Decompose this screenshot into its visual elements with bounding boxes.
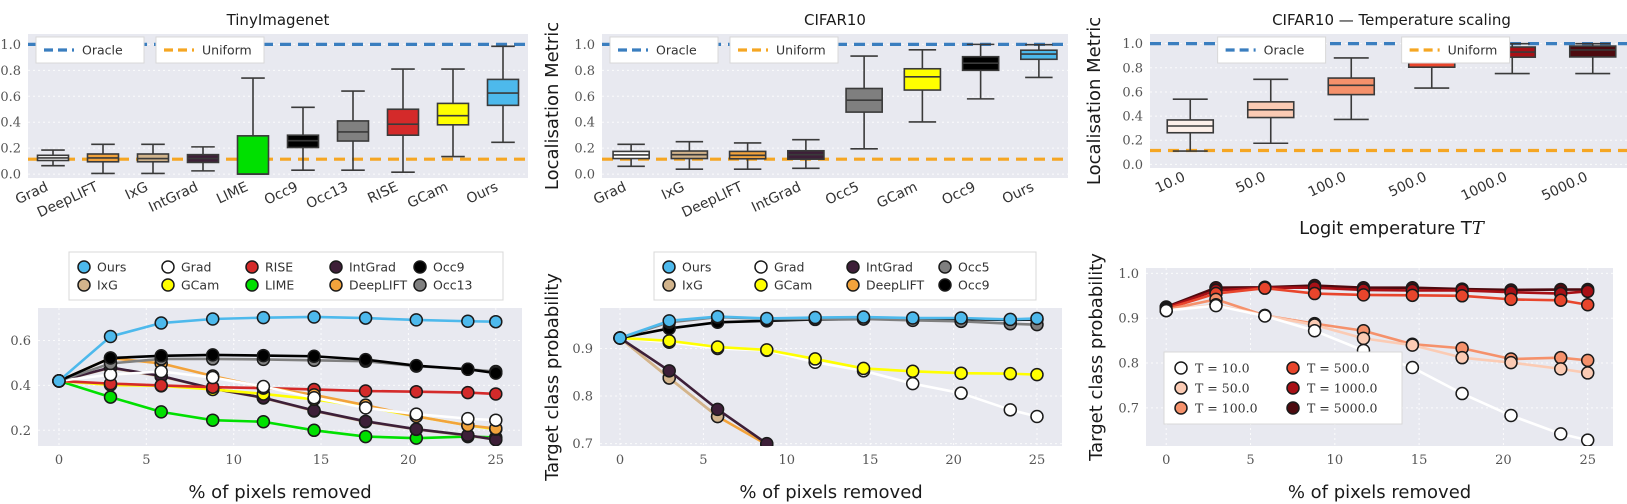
x-tick-label: Ours bbox=[464, 179, 501, 207]
y-axis-label: Localisation Metric bbox=[542, 22, 563, 190]
legend-marker bbox=[162, 261, 174, 273]
series-marker bbox=[955, 367, 967, 379]
x-tick-label: 10 bbox=[1327, 453, 1344, 468]
series-marker bbox=[1555, 363, 1567, 375]
x-axis-label: % of pixels removed bbox=[739, 482, 922, 503]
series-marker bbox=[360, 415, 372, 427]
series-marker bbox=[490, 367, 502, 379]
legend-label: Ours bbox=[682, 260, 711, 275]
series-marker bbox=[410, 423, 422, 435]
legend-marker bbox=[78, 261, 90, 273]
x-tick-label: LIME bbox=[214, 179, 251, 207]
legend-marker bbox=[414, 261, 426, 273]
x-axis-label: % of pixels removed bbox=[1288, 482, 1471, 503]
x-tick-label: 25 bbox=[1579, 453, 1596, 468]
y-tick-label: 0.8 bbox=[1122, 61, 1143, 76]
series-marker bbox=[1004, 313, 1016, 325]
series-marker bbox=[809, 353, 821, 365]
box-iqr bbox=[1328, 78, 1374, 95]
legend-marker bbox=[847, 261, 859, 273]
series-marker bbox=[1004, 404, 1016, 416]
y-axis-label: Target class probability bbox=[542, 273, 563, 482]
panel-1: CIFAR100.00.20.40.60.81.0Localisation Me… bbox=[540, 0, 1080, 240]
series-marker bbox=[1505, 357, 1517, 369]
series-marker bbox=[1406, 289, 1418, 301]
legend-label: Occ13 bbox=[433, 278, 473, 293]
panel-tr-boxplot-temperature: CIFAR10 — Temperature scaling0.00.20.40.… bbox=[1080, 0, 1627, 240]
legend-marker bbox=[1175, 362, 1187, 374]
legend-marker bbox=[330, 261, 342, 273]
panel-tm-boxplot-cifar10: CIFAR100.00.20.40.60.81.0Localisation Me… bbox=[540, 0, 1080, 240]
x-tick-label: 0 bbox=[616, 453, 624, 468]
panel-3: 0.20.40.60510152025Target class probabil… bbox=[0, 240, 540, 504]
panel-title: CIFAR10 — Temperature scaling bbox=[1272, 11, 1511, 29]
x-axis-label: Logit emperature TT bbox=[1299, 218, 1486, 239]
series-marker bbox=[207, 313, 219, 325]
x-tick-label: Occ13 bbox=[304, 179, 351, 212]
series-marker bbox=[1456, 388, 1468, 400]
box-iqr bbox=[904, 69, 940, 90]
y-tick-label: 0.7 bbox=[572, 437, 593, 452]
x-tick-label: IxG bbox=[123, 179, 151, 203]
series-marker bbox=[858, 362, 870, 374]
series-marker bbox=[1582, 285, 1594, 297]
series-marker bbox=[360, 354, 372, 366]
panel-bl-lines-tinyimagenet: 0.20.40.60510152025Target class probabil… bbox=[0, 240, 540, 504]
series-marker bbox=[308, 392, 320, 404]
series-marker bbox=[1456, 352, 1468, 364]
x-tick-label: 15 bbox=[313, 453, 330, 468]
series-marker bbox=[257, 312, 269, 324]
x-tick-label: 5 bbox=[1246, 453, 1254, 468]
series-marker bbox=[308, 350, 320, 362]
series-marker bbox=[462, 387, 474, 399]
legend-label: T = 1000.0 bbox=[1307, 381, 1378, 396]
series-marker bbox=[663, 315, 675, 327]
legend-label: Occ9 bbox=[958, 278, 990, 293]
series-marker bbox=[308, 405, 320, 417]
y-tick-label: 0.6 bbox=[574, 90, 595, 105]
box-iqr bbox=[1570, 46, 1616, 57]
series-marker bbox=[410, 386, 422, 398]
series-marker bbox=[105, 369, 117, 381]
legend-label: Oracle bbox=[656, 43, 697, 58]
series-marker bbox=[907, 365, 919, 377]
x-tick-label: 20 bbox=[1495, 453, 1512, 468]
y-axis-label: Localisation Metric bbox=[0, 22, 3, 190]
y-tick-label: 0.0 bbox=[1122, 158, 1143, 173]
x-tick-label: Occ9 bbox=[940, 179, 979, 208]
x-tick-label: Occ5 bbox=[823, 179, 862, 208]
x-tick-label: 25 bbox=[1029, 453, 1046, 468]
x-tick-label: RISE bbox=[365, 179, 400, 207]
legend-label: IxG bbox=[682, 278, 703, 293]
series-marker bbox=[155, 317, 167, 329]
panel-br-lines-temperature: 0.70.80.91.00510152025Target class proba… bbox=[1080, 240, 1627, 504]
legend-marker bbox=[939, 279, 951, 291]
panel-bm-lines-cifar10: 0.70.80.90510152025Target class probabil… bbox=[540, 240, 1080, 504]
legend-marker bbox=[755, 279, 767, 291]
box-iqr bbox=[338, 121, 369, 141]
series-marker bbox=[207, 349, 219, 361]
x-tick-label: 5 bbox=[142, 453, 150, 468]
series-marker bbox=[1505, 410, 1517, 422]
series-marker bbox=[907, 312, 919, 324]
y-tick-label: 0.8 bbox=[572, 390, 593, 405]
panel-0: TinyImagenet0.00.20.40.60.81.0Localisati… bbox=[0, 0, 540, 240]
legend-item-uniform: Uniform bbox=[730, 37, 838, 63]
x-tick-label: IxG bbox=[659, 179, 687, 203]
series-marker bbox=[410, 360, 422, 372]
series-marker bbox=[462, 363, 474, 375]
legend-label: Uniform bbox=[776, 43, 826, 58]
legend-item-oracle: Oracle bbox=[36, 37, 144, 63]
legend-marker bbox=[1175, 382, 1187, 394]
series-marker bbox=[1309, 288, 1321, 300]
series-marker bbox=[1004, 368, 1016, 380]
x-tick-label: 0 bbox=[1162, 453, 1170, 468]
legend-item-oracle: Oracle bbox=[1218, 37, 1326, 63]
y-tick-label: 0.4 bbox=[10, 379, 31, 394]
y-tick-label: 0.6 bbox=[0, 90, 21, 105]
y-axis-label: Target class probability bbox=[0, 273, 1, 482]
panel-5: 0.70.80.91.00510152025Target class proba… bbox=[1080, 240, 1627, 504]
legend-marker bbox=[162, 279, 174, 291]
series-marker bbox=[1555, 428, 1567, 440]
y-tick-label: 0.4 bbox=[0, 116, 21, 131]
series-marker bbox=[105, 352, 117, 364]
x-tick-label: 10.0 bbox=[1153, 169, 1188, 197]
series-marker bbox=[105, 330, 117, 342]
series-marker bbox=[1582, 367, 1594, 379]
y-tick-label: 1.0 bbox=[1122, 37, 1143, 52]
series-marker bbox=[257, 416, 269, 428]
box-iqr bbox=[238, 136, 269, 174]
y-tick-label: 0.0 bbox=[574, 168, 595, 183]
y-tick-label: 0.8 bbox=[1118, 357, 1139, 372]
x-tick-label: Occ9 bbox=[262, 179, 301, 208]
x-tick-label: 50.0 bbox=[1233, 169, 1268, 197]
panel-title: CIFAR10 bbox=[804, 11, 866, 29]
y-tick-label: 0.9 bbox=[572, 342, 593, 357]
y-tick-label: 0.8 bbox=[574, 64, 595, 79]
series-marker bbox=[155, 350, 167, 362]
series-marker bbox=[1582, 299, 1594, 311]
series-marker bbox=[809, 312, 821, 324]
series-marker bbox=[907, 378, 919, 390]
x-axis-label: % of pixels removed bbox=[188, 482, 371, 503]
series-marker bbox=[360, 385, 372, 397]
series-marker bbox=[1160, 305, 1172, 317]
x-tick-label: GCam bbox=[874, 179, 920, 212]
legend-marker bbox=[1287, 362, 1299, 374]
y-tick-label: 0.6 bbox=[10, 334, 31, 349]
legend-label: DeepLIFT bbox=[349, 278, 408, 293]
x-tick-label: 15 bbox=[1411, 453, 1428, 468]
legend-item-oracle: Oracle bbox=[610, 37, 718, 63]
y-axis-label: Localisation Metric bbox=[1084, 17, 1105, 185]
y-tick-label: 1.0 bbox=[1118, 267, 1139, 282]
series-marker bbox=[1309, 325, 1321, 337]
legend-label: RISE bbox=[265, 260, 293, 275]
legend-marker bbox=[663, 261, 675, 273]
legend-marker bbox=[1175, 402, 1187, 414]
y-tick-label: 1.0 bbox=[574, 38, 595, 53]
series-marker bbox=[462, 413, 474, 425]
legend-label: IxG bbox=[97, 278, 118, 293]
legend-label: T = 10.0 bbox=[1195, 361, 1250, 376]
series-marker bbox=[1456, 290, 1468, 302]
series-marker bbox=[761, 438, 773, 450]
series-marker bbox=[105, 391, 117, 403]
series-marker bbox=[360, 431, 372, 443]
series-marker bbox=[155, 379, 167, 391]
series-marker bbox=[761, 344, 773, 356]
x-tick-label: 20 bbox=[945, 453, 962, 468]
y-tick-label: 0.2 bbox=[0, 142, 21, 157]
panel-tl-boxplot-tinyimagenet: TinyImagenet0.00.20.40.60.81.0Localisati… bbox=[0, 0, 540, 240]
series-marker bbox=[308, 424, 320, 436]
legend-label: Grad bbox=[181, 260, 211, 275]
series-marker bbox=[490, 316, 502, 328]
panel-title: TinyImagenet bbox=[226, 11, 330, 29]
legend-marker bbox=[78, 279, 90, 291]
series-marker bbox=[1031, 312, 1043, 324]
legend: T = 10.0T = 500.0T = 50.0T = 1000.0T = 1… bbox=[1164, 352, 1402, 424]
legend-label: DeepLIFT bbox=[866, 278, 925, 293]
series-marker bbox=[1031, 369, 1043, 381]
legend-label: T = 100.0 bbox=[1195, 401, 1258, 416]
legend-item-uniform: Uniform bbox=[1402, 37, 1510, 63]
series-marker bbox=[1357, 332, 1369, 344]
legend-marker bbox=[847, 279, 859, 291]
panel-2: CIFAR10 — Temperature scaling0.00.20.40.… bbox=[1080, 0, 1627, 240]
series-marker bbox=[155, 366, 167, 378]
legend-label: Oracle bbox=[1264, 43, 1305, 58]
series-marker bbox=[955, 312, 967, 324]
box-iqr bbox=[438, 103, 469, 124]
series-marker bbox=[462, 315, 474, 327]
x-tick-label: 15 bbox=[862, 453, 879, 468]
series-marker bbox=[1555, 294, 1567, 306]
legend-label: Occ5 bbox=[958, 260, 990, 275]
panel-4: 0.70.80.90510152025Target class probabil… bbox=[540, 240, 1080, 504]
series-marker bbox=[308, 311, 320, 323]
series-marker bbox=[712, 341, 724, 353]
series-marker bbox=[1555, 352, 1567, 364]
series-marker bbox=[663, 335, 675, 347]
legend-label: GCam bbox=[181, 278, 219, 293]
legend-label: Grad bbox=[774, 260, 804, 275]
series-marker bbox=[257, 381, 269, 393]
x-tick-label: GCam bbox=[405, 179, 451, 212]
x-tick-label: 25 bbox=[488, 453, 505, 468]
x-tick-label: IntGrad bbox=[146, 179, 200, 216]
box-iqr bbox=[388, 109, 419, 135]
y-tick-label: 0.7 bbox=[1118, 401, 1139, 416]
x-tick-label: Grad bbox=[591, 179, 629, 208]
legend-label: IntGrad bbox=[866, 260, 913, 275]
legend-marker bbox=[755, 261, 767, 273]
series-marker bbox=[1406, 362, 1418, 374]
legend-marker bbox=[939, 261, 951, 273]
legend-label: T = 50.0 bbox=[1195, 381, 1250, 396]
x-tick-label: 20 bbox=[400, 453, 417, 468]
series-marker bbox=[1259, 310, 1271, 322]
y-tick-label: 0.2 bbox=[1122, 134, 1143, 149]
y-tick-label: 0.2 bbox=[574, 142, 595, 157]
series-marker bbox=[1582, 354, 1594, 366]
x-tick-label: 5 bbox=[699, 453, 707, 468]
series-marker bbox=[1259, 282, 1271, 294]
legend-label: IntGrad bbox=[349, 260, 396, 275]
series-marker bbox=[955, 387, 967, 399]
series-marker bbox=[1505, 293, 1517, 305]
figure-root: TinyImagenet0.00.20.40.60.81.0Localisati… bbox=[0, 0, 1627, 504]
y-tick-label: 0.6 bbox=[1122, 85, 1143, 100]
series-marker bbox=[360, 312, 372, 324]
legend-item-uniform: Uniform bbox=[156, 37, 264, 63]
legend: OursGradRISEIntGradOcc9IxGGCamLIMEDeepLI… bbox=[69, 252, 503, 300]
y-tick-label: 0.0 bbox=[0, 168, 21, 183]
legend-marker bbox=[246, 279, 258, 291]
x-tick-label: 0 bbox=[55, 453, 63, 468]
y-tick-label: 0.2 bbox=[10, 424, 31, 439]
series-marker bbox=[1357, 289, 1369, 301]
series-marker bbox=[1582, 434, 1594, 446]
legend-marker bbox=[330, 279, 342, 291]
series-marker bbox=[490, 388, 502, 400]
y-tick-label: 0.4 bbox=[1122, 110, 1143, 125]
series-marker bbox=[761, 312, 773, 324]
x-tick-label: 500.0 bbox=[1386, 169, 1429, 200]
series-marker bbox=[360, 402, 372, 414]
series-marker bbox=[257, 350, 269, 362]
y-tick-label: 0.4 bbox=[574, 116, 595, 131]
series-marker bbox=[1406, 339, 1418, 351]
legend-label: Occ9 bbox=[433, 260, 465, 275]
series-marker bbox=[410, 314, 422, 326]
legend-marker bbox=[663, 279, 675, 291]
series-marker bbox=[410, 408, 422, 420]
series-marker bbox=[155, 406, 167, 418]
y-tick-label: 1.0 bbox=[0, 38, 21, 53]
series-marker bbox=[207, 372, 219, 384]
series-marker bbox=[1031, 410, 1043, 422]
x-tick-label: DeepLIFT bbox=[679, 179, 745, 221]
y-tick-label: 0.9 bbox=[1118, 312, 1139, 327]
legend-marker bbox=[1287, 382, 1299, 394]
y-tick-label: 0.8 bbox=[0, 64, 21, 79]
legend: OursGradIntGradOcc5IxGGCamDeepLIFTOcc9 bbox=[654, 252, 1036, 300]
series-marker bbox=[614, 332, 626, 344]
series-marker bbox=[1210, 300, 1222, 312]
x-tick-label: 1000.0 bbox=[1459, 169, 1510, 204]
legend-label: Oracle bbox=[82, 43, 123, 58]
series-marker bbox=[858, 311, 870, 323]
legend-marker bbox=[246, 261, 258, 273]
x-tick-label: 5000.0 bbox=[1539, 169, 1590, 204]
legend-label: T = 5000.0 bbox=[1307, 401, 1378, 416]
series-marker bbox=[53, 375, 65, 387]
x-tick-label: 10 bbox=[225, 453, 242, 468]
series-marker bbox=[207, 414, 219, 426]
legend-marker bbox=[1287, 402, 1299, 414]
legend-label: Uniform bbox=[1448, 43, 1498, 58]
x-tick-label: 10 bbox=[779, 453, 796, 468]
x-tick-label: IntGrad bbox=[749, 179, 803, 216]
legend-label: LIME bbox=[265, 278, 294, 293]
legend-label: T = 500.0 bbox=[1307, 361, 1370, 376]
series-marker bbox=[663, 365, 675, 377]
legend-label: Uniform bbox=[202, 43, 252, 58]
series-marker bbox=[490, 414, 502, 426]
legend-label: GCam bbox=[774, 278, 812, 293]
legend-marker bbox=[414, 279, 426, 291]
legend-label: Ours bbox=[97, 260, 126, 275]
series-marker bbox=[712, 311, 724, 323]
y-axis-label: Target class probability bbox=[1086, 253, 1107, 462]
series-marker bbox=[712, 403, 724, 415]
x-tick-label: 100.0 bbox=[1306, 169, 1349, 200]
x-tick-label: Ours bbox=[1000, 179, 1037, 207]
